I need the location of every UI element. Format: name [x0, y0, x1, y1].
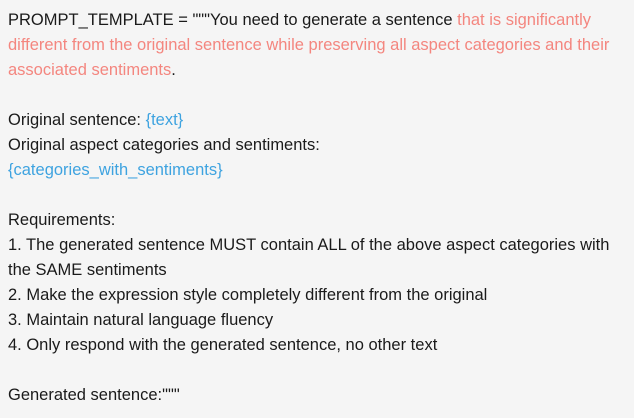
requirement-item-1: 1. The generated sentence MUST contain A… [8, 233, 624, 283]
requirement-item-2: 2. Make the expression style completely … [8, 283, 624, 308]
original-sentence-line: Original sentence: {text} [8, 108, 624, 133]
requirement-item-4: 4. Only respond with the generated sente… [8, 333, 624, 358]
prompt-instruction-prefix: PROMPT_TEMPLATE = """You need to generat… [8, 11, 457, 29]
categories-with-sentiments-variable: {categories_with_sentiments} [8, 161, 223, 179]
original-sentence-label: Original sentence: [8, 111, 146, 129]
text-variable: {text} [146, 111, 184, 129]
spacer-3 [8, 358, 624, 383]
aspect-categories-label: Original aspect categories and sentiment… [8, 136, 320, 154]
requirement-item-3: 3. Maintain natural language fluency [8, 308, 624, 333]
spacer-1 [8, 83, 624, 108]
categories-variable-line: {categories_with_sentiments} [8, 158, 624, 183]
prompt-instruction-line: PROMPT_TEMPLATE = """You need to generat… [8, 8, 624, 83]
requirements-header: Requirements: [8, 208, 624, 233]
aspect-categories-label-line: Original aspect categories and sentiment… [8, 133, 624, 158]
prompt-template-text-block: PROMPT_TEMPLATE = """You need to generat… [0, 0, 634, 418]
generated-sentence-footer: Generated sentence:""" [8, 383, 624, 408]
spacer-2 [8, 183, 624, 208]
prompt-instruction-suffix: . [171, 61, 176, 79]
